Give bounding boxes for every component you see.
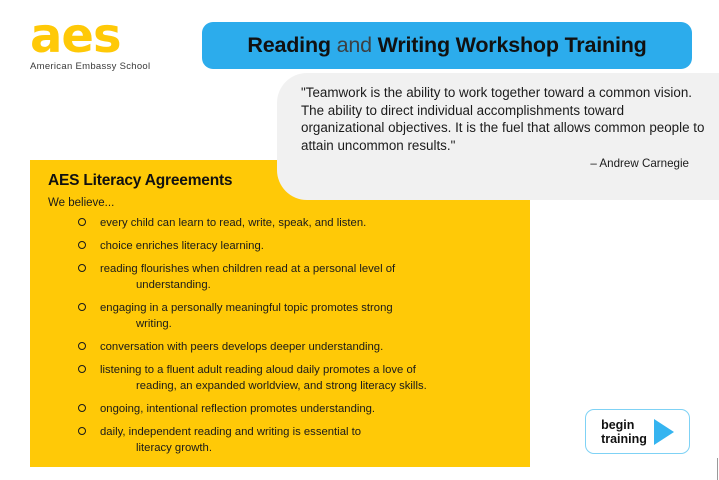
agreements-intro: We believe...: [48, 197, 114, 209]
agreement-item: every child can learn to read, write, sp…: [48, 215, 522, 231]
agreement-item: ongoing, intentional reflection promotes…: [48, 401, 522, 417]
begin-training-label: begin training: [601, 418, 647, 446]
bullet-ring-icon: [78, 365, 86, 373]
agreements-list: every child can learn to read, write, sp…: [48, 215, 522, 463]
agreement-line-continuation: understanding.: [100, 277, 522, 293]
quote-attribution: – Andrew Carnegie: [301, 157, 705, 170]
quote-text: "Teamwork is the ability to work togethe…: [301, 84, 705, 155]
title-segment-reading: Reading: [247, 33, 330, 57]
agreement-line-continuation: reading, an expanded worldview, and stro…: [100, 378, 522, 394]
agreement-line-continuation: literacy growth.: [100, 440, 522, 456]
agreement-line-primary: choice enriches literacy learning.: [100, 240, 264, 252]
agreement-line-continuation: writing.: [100, 316, 522, 332]
agreement-item: reading flourishes when children read at…: [48, 261, 522, 293]
title-segment-writing: Writing Workshop Training: [378, 33, 647, 57]
agreement-item: engaging in a personally meaningful topi…: [48, 300, 522, 332]
bullet-ring-icon: [78, 404, 86, 412]
agreement-item: listening to a fluent adult reading alou…: [48, 362, 522, 394]
agreement-item: conversation with peers develops deeper …: [48, 339, 522, 355]
logo-subtitle: American Embassy School: [30, 61, 195, 72]
agreement-item: daily, independent reading and writing i…: [48, 424, 522, 456]
agreement-line-primary: conversation with peers develops deeper …: [100, 341, 383, 353]
logo-wordmark: aes: [30, 14, 195, 58]
literacy-agreements-panel: AES Literacy Agreements We believe... ev…: [30, 160, 530, 467]
bullet-ring-icon: [78, 264, 86, 272]
bullet-ring-icon: [78, 427, 86, 435]
agreements-heading: AES Literacy Agreements: [48, 172, 232, 190]
agreement-line-primary: listening to a fluent adult reading alou…: [100, 364, 416, 376]
bullet-ring-icon: [78, 342, 86, 350]
agreement-line-primary: daily, independent reading and writing i…: [100, 426, 361, 438]
slide-canvas: aes American Embassy School Reading and …: [0, 0, 719, 480]
bullet-ring-icon: [78, 218, 86, 226]
aes-logo: aes American Embassy School: [30, 14, 195, 72]
bullet-ring-icon: [78, 303, 86, 311]
agreement-line-primary: reading flourishes when children read at…: [100, 263, 395, 275]
agreement-line-primary: ongoing, intentional reflection promotes…: [100, 403, 375, 415]
title-segment-and: and: [331, 33, 378, 57]
agreement-item: choice enriches literacy learning.: [48, 238, 522, 254]
bullet-ring-icon: [78, 241, 86, 249]
title-banner: Reading and Writing Workshop Training: [202, 22, 692, 69]
play-triangle-icon: [654, 419, 674, 445]
quote-callout: "Teamwork is the ability to work togethe…: [277, 73, 719, 200]
begin-training-button[interactable]: begin training: [585, 409, 690, 454]
agreement-line-primary: every child can learn to read, write, sp…: [100, 217, 366, 229]
page-title: Reading and Writing Workshop Training: [247, 33, 646, 58]
edge-rule: [717, 458, 718, 480]
agreement-line-primary: engaging in a personally meaningful topi…: [100, 302, 393, 314]
